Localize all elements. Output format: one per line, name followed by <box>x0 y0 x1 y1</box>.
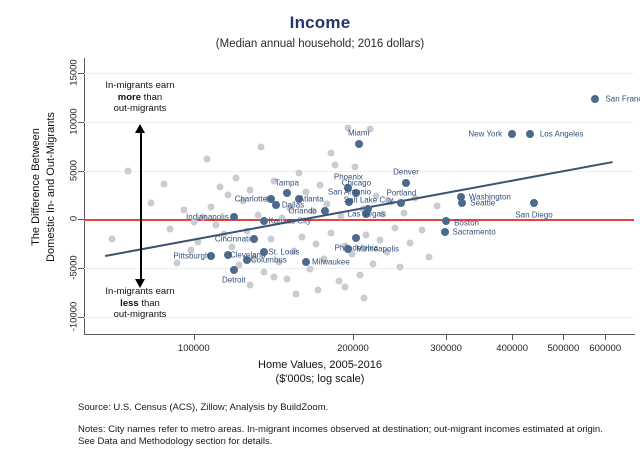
y-axis-title-line2: Domestic In- and Out-Migrants <box>44 57 59 317</box>
point-label-pittsburgh: Pittsburgh <box>173 252 209 261</box>
x-tick-label: 300000 <box>430 343 462 354</box>
data-point[interactable] <box>363 232 370 239</box>
data-point-denver[interactable] <box>402 179 410 187</box>
x-axis-title-line2: ($'000s; log scale) <box>0 372 640 386</box>
data-point[interactable] <box>369 260 376 267</box>
data-point[interactable] <box>433 202 440 209</box>
point-label-sacramento: Sacramento <box>453 227 496 236</box>
footnote-line1: Notes: City names refer to metro areas. … <box>78 424 603 436</box>
data-point[interactable] <box>292 290 299 297</box>
data-point[interactable] <box>315 286 322 293</box>
arrow-down-icon-head <box>135 279 145 288</box>
data-point-indianapolis[interactable] <box>230 213 238 221</box>
footnotes: Notes: City names refer to metro areas. … <box>78 424 603 448</box>
point-label-new-york: New York <box>468 130 502 139</box>
data-point-san-francisco[interactable] <box>591 95 599 103</box>
point-label-denver: Denver <box>393 168 419 177</box>
data-point[interactable] <box>341 283 348 290</box>
data-point[interactable] <box>295 170 302 177</box>
data-point[interactable] <box>166 226 173 233</box>
x-axis-title: Home Values, 2005-2016 ($'000s; log scal… <box>0 358 640 386</box>
point-label-milwaukee: Milwaukee <box>312 257 350 266</box>
data-point-columbus[interactable] <box>243 256 251 264</box>
data-point[interactable] <box>298 234 305 241</box>
annotation-in-migrants-earn-less-line3: out-migrants <box>105 309 174 321</box>
annotation-in-migrants-earn-more-line1: In-migrants earn <box>105 80 174 92</box>
data-point[interactable] <box>283 276 290 283</box>
data-point[interactable] <box>328 230 335 237</box>
point-label-kansas-city: Kansas City <box>268 217 311 226</box>
data-point[interactable] <box>247 282 254 289</box>
point-label-san-francisco: San Francisco <box>605 95 640 104</box>
y-tick-label: 10000 <box>69 98 80 144</box>
data-point[interactable] <box>254 211 261 218</box>
data-point-miami[interactable] <box>355 140 363 148</box>
data-point[interactable] <box>401 209 408 216</box>
x-tick-label: 400000 <box>496 343 528 354</box>
data-point[interactable] <box>216 184 223 191</box>
point-label-seattle: Seattle <box>470 199 495 208</box>
point-label-chicago: Chicago <box>342 179 371 188</box>
data-point-dallas[interactable] <box>272 201 280 209</box>
data-point[interactable] <box>271 274 278 281</box>
data-point[interactable] <box>377 237 384 244</box>
point-label-las-vegas: Las Vegas <box>348 209 385 218</box>
arrow-up-icon-head <box>135 124 145 133</box>
point-label-minneapolis: Minneapolis <box>356 244 399 253</box>
gridline-y <box>84 73 634 74</box>
data-point[interactable] <box>361 294 368 301</box>
data-point[interactable] <box>335 278 342 285</box>
arrow-down-icon-shaft <box>140 196 142 280</box>
x-tick-label: 600000 <box>589 343 621 354</box>
y-tick-label: 5000 <box>69 147 80 193</box>
x-tick <box>605 334 606 340</box>
data-point-san-diego[interactable] <box>530 199 538 207</box>
data-point-kansas-city[interactable] <box>260 217 268 225</box>
data-point[interactable] <box>147 199 154 206</box>
zero-reference-line <box>84 219 634 221</box>
point-label-san-diego: San Diego <box>515 210 552 219</box>
y-axis-title: The Difference Between Domestic In- and … <box>29 57 59 317</box>
data-point[interactable] <box>425 253 432 260</box>
point-label-detroit: Detroit <box>222 276 246 285</box>
y-tick-label: 15000 <box>69 49 80 95</box>
annotation-in-migrants-earn-more-emphasis: more <box>118 92 141 103</box>
data-point[interactable] <box>356 272 363 279</box>
y-tick-label: 0 <box>69 196 80 242</box>
data-point[interactable] <box>312 240 319 247</box>
data-point-tampa[interactable] <box>283 189 291 197</box>
data-point-milwaukee[interactable] <box>302 258 310 266</box>
point-label-salt-lake-city: Salt Lake City <box>344 196 393 205</box>
data-point-sacramento[interactable] <box>441 228 449 236</box>
data-point-minneapolis[interactable] <box>344 245 352 253</box>
data-point-orlando[interactable] <box>321 207 329 215</box>
chart-title: Income <box>0 13 640 33</box>
gridline-y <box>84 122 634 123</box>
data-point[interactable] <box>391 225 398 232</box>
x-tick <box>512 334 513 340</box>
chart-root: Income (Median annual household; 2016 do… <box>0 0 640 465</box>
x-axis-title-line1: Home Values, 2005-2016 <box>0 358 640 372</box>
point-label-indianapolis: Indianapolis <box>186 213 229 222</box>
point-label-orlando: Orlando <box>288 207 316 216</box>
data-point-philadelphia[interactable] <box>352 234 360 242</box>
plot-area: -10000-500005000100001500010000020000030… <box>84 58 634 332</box>
data-point[interactable] <box>108 236 115 243</box>
data-point-portland[interactable] <box>397 199 405 207</box>
data-point[interactable] <box>406 239 413 246</box>
point-label-miami: Miami <box>348 129 369 138</box>
data-point[interactable] <box>212 222 219 229</box>
x-axis-line <box>84 334 635 335</box>
annotation-in-migrants-earn-more-line3: out-migrants <box>105 103 174 115</box>
annotation-in-migrants-earn-less: In-migrants earnless thanout-migrants <box>105 286 174 321</box>
y-tick-label: -10000 <box>69 294 80 340</box>
x-tick-label: 100000 <box>178 343 210 354</box>
chart-subtitle: (Median annual household; 2016 dollars) <box>0 38 640 50</box>
data-point-los-angeles[interactable] <box>526 130 534 138</box>
data-point[interactable] <box>332 161 339 168</box>
data-point[interactable] <box>328 149 335 156</box>
data-point-boston[interactable] <box>442 217 450 225</box>
x-tick <box>563 334 564 340</box>
data-point[interactable] <box>232 175 239 182</box>
footnote-line2: See Data and Methodology section for det… <box>78 436 603 448</box>
annotation-in-migrants-earn-less-line2: less than <box>105 298 174 310</box>
point-label-los-angeles: Los Angeles <box>540 130 584 139</box>
data-point[interactable] <box>261 269 268 276</box>
data-point[interactable] <box>396 264 403 271</box>
data-point-new-york[interactable] <box>508 130 516 138</box>
gridline-y <box>84 268 634 269</box>
y-axis-title-line1: The Difference Between <box>29 57 44 317</box>
x-tick <box>194 334 195 340</box>
x-tick-label: 500000 <box>548 343 580 354</box>
point-label-cincinnati: Cincinnati <box>215 234 250 243</box>
data-point[interactable] <box>307 266 314 273</box>
data-point[interactable] <box>124 167 131 174</box>
annotation-in-migrants-earn-more: In-migrants earnmore thanout-migrants <box>105 80 174 115</box>
data-point[interactable] <box>257 144 264 151</box>
data-point[interactable] <box>224 192 231 199</box>
x-tick-label: 200000 <box>337 343 369 354</box>
y-tick-label: -5000 <box>69 245 80 291</box>
point-label-tampa: Tampa <box>275 178 299 187</box>
annotation-in-migrants-earn-more-line2: more than <box>105 92 174 104</box>
data-point-cincinnati[interactable] <box>250 235 258 243</box>
annotation-in-migrants-earn-less-emphasis: less <box>120 298 139 309</box>
point-label-columbus: Columbus <box>251 256 287 265</box>
point-label-charlotte: Charlotte <box>235 195 267 204</box>
data-point[interactable] <box>208 203 215 210</box>
source-note: Source: U.S. Census (ACS), Zillow; Analy… <box>78 402 328 413</box>
data-point[interactable] <box>204 155 211 162</box>
x-tick <box>446 334 447 340</box>
data-point[interactable] <box>161 181 168 188</box>
data-point[interactable] <box>247 187 254 194</box>
data-point[interactable] <box>418 227 425 234</box>
data-point-seattle[interactable] <box>458 199 466 207</box>
data-point[interactable] <box>268 236 275 243</box>
x-tick <box>353 334 354 340</box>
data-point[interactable] <box>352 163 359 170</box>
data-point-detroit[interactable] <box>230 266 238 274</box>
data-point[interactable] <box>316 182 323 189</box>
